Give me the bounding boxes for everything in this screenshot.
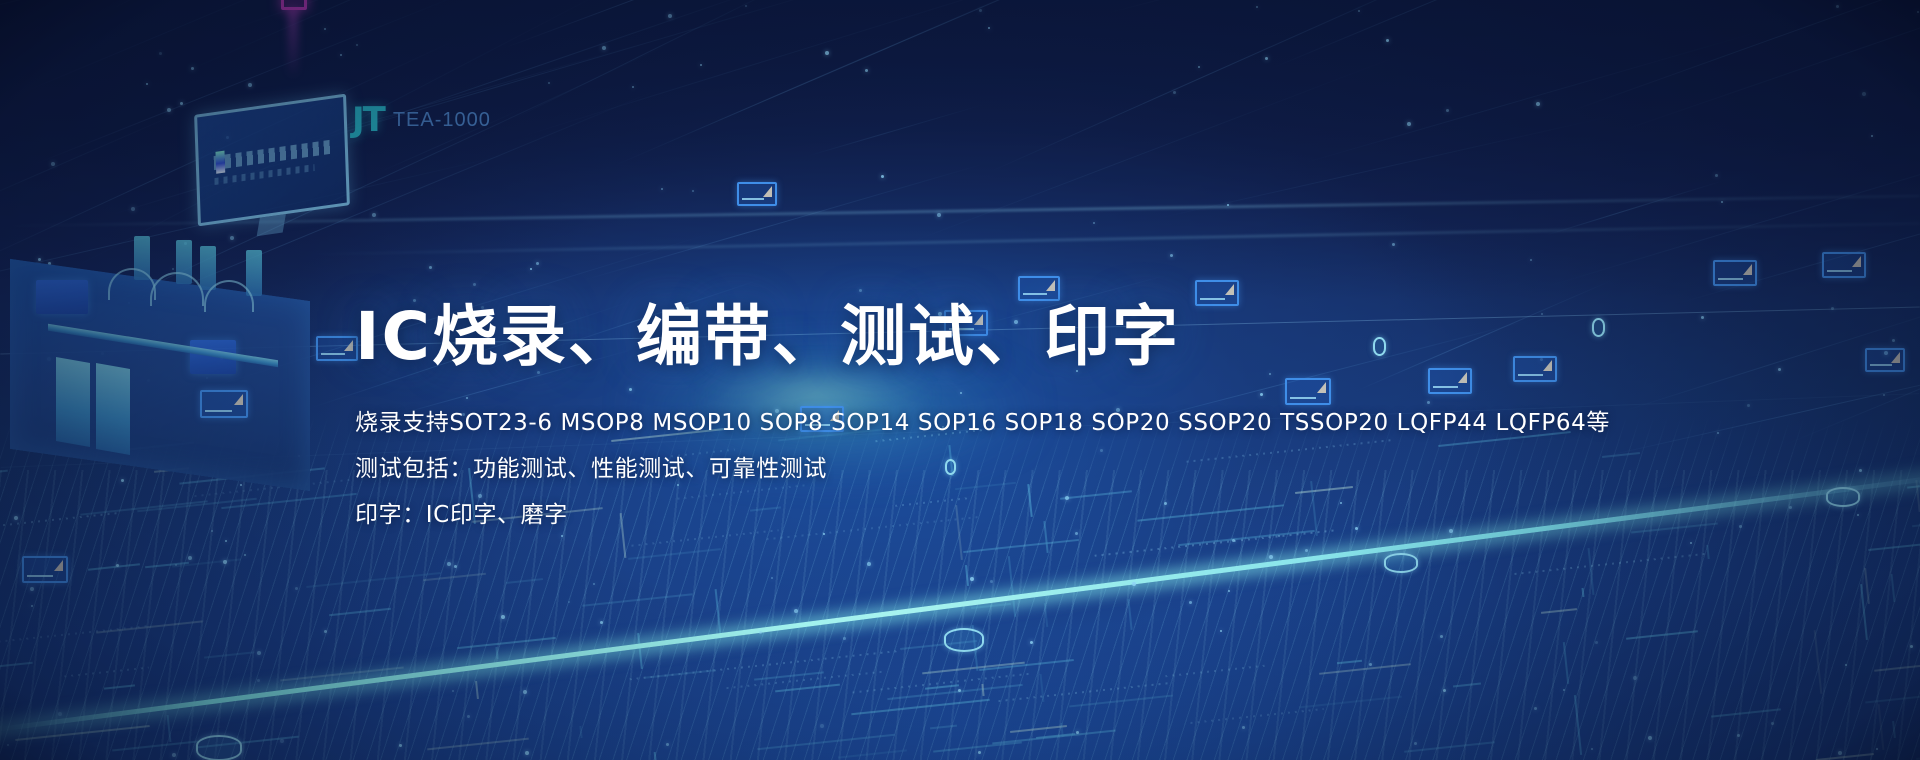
service-line-marking: 印字：IC印字、磨字 bbox=[355, 492, 1615, 538]
service-detail-list: 烧录支持SOT23-6 MSOP8 MSOP10 SOP8 SOP14 SOP1… bbox=[355, 400, 1615, 538]
service-line-burn-support: 烧录支持SOT23-6 MSOP8 MSOP10 SOP8 SOP14 SOP1… bbox=[355, 400, 1615, 446]
ic-services-hero-banner: JT TEA-1000 IC烧录、编带、测试、印字 烧 bbox=[0, 0, 1920, 760]
hero-text-block: IC烧录、编带、测试、印字 烧录支持SOT23-6 MSOP8 MSOP10 S… bbox=[355, 300, 1615, 538]
page-title: IC烧录、编带、测试、印字 bbox=[355, 300, 1615, 374]
service-line-testing: 测试包括：功能测试、性能测试、可靠性测试 bbox=[355, 446, 1615, 492]
